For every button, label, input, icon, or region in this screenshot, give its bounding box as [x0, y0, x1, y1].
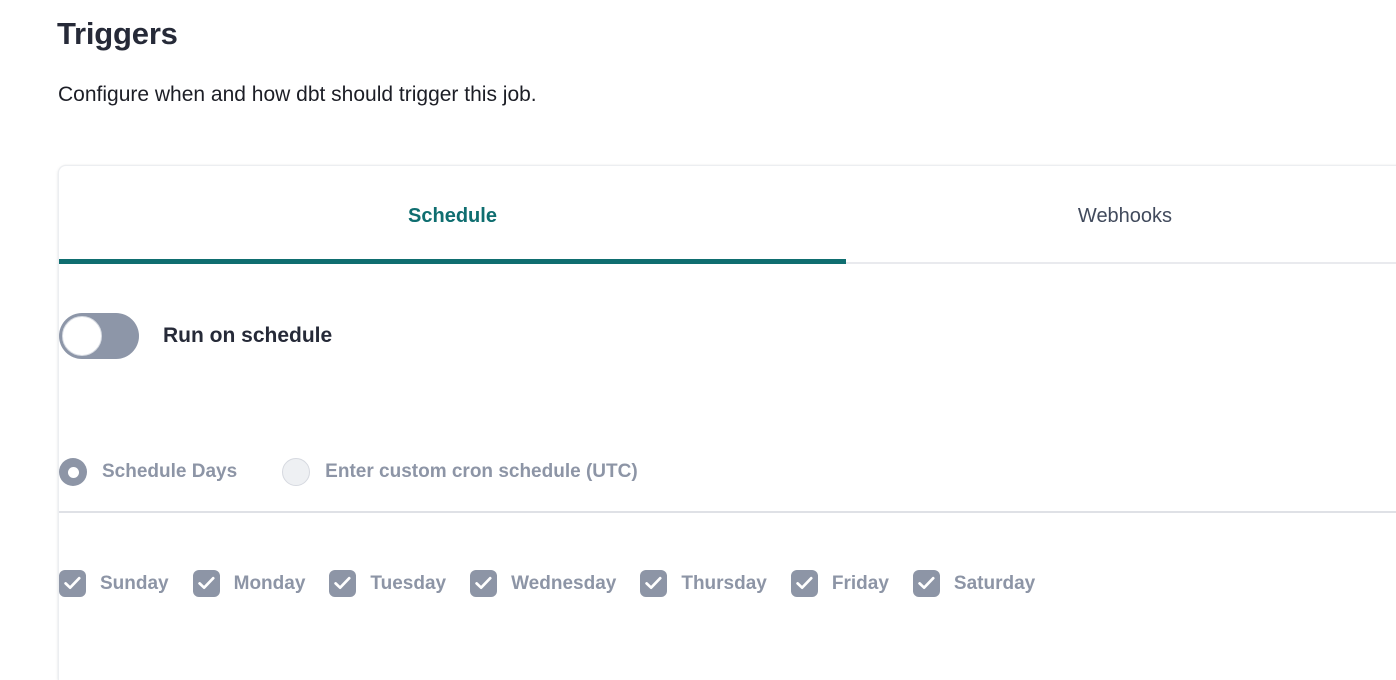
- checkmark-icon: [470, 570, 497, 597]
- checkmark-icon: [329, 570, 356, 597]
- toggle-knob: [62, 316, 102, 356]
- day-checkbox-monday[interactable]: Monday: [193, 570, 306, 597]
- triggers-page: Triggers Configure when and how dbt shou…: [0, 0, 1396, 680]
- checkmark-icon: [193, 570, 220, 597]
- checkmark-icon: [913, 570, 940, 597]
- radio-unselected-icon: [282, 458, 310, 486]
- day-checkbox-thursday[interactable]: Thursday: [640, 570, 767, 597]
- radio-option-schedule-days-label: Schedule Days: [102, 461, 237, 483]
- day-checkbox-friday[interactable]: Friday: [791, 570, 889, 597]
- tab-webhooks[interactable]: Webhooks: [846, 166, 1396, 267]
- section-divider: [59, 511, 1396, 513]
- checkmark-icon: [640, 570, 667, 597]
- checkmark-icon: [791, 570, 818, 597]
- day-checkbox-tuesday[interactable]: Tuesday: [329, 570, 446, 597]
- day-label-wednesday: Wednesday: [511, 573, 616, 595]
- day-checkbox-wednesday[interactable]: Wednesday: [470, 570, 616, 597]
- radio-option-schedule-days[interactable]: Schedule Days: [59, 458, 237, 486]
- schedule-days-checkbox-group: Sunday Monday Tuesday: [59, 570, 1035, 597]
- day-checkbox-sunday[interactable]: Sunday: [59, 570, 169, 597]
- tab-bar: Schedule Webhooks: [59, 166, 1396, 267]
- tab-active-indicator: [59, 259, 846, 264]
- page-title: Triggers: [57, 12, 178, 56]
- day-label-thursday: Thursday: [681, 573, 767, 595]
- day-checkbox-saturday[interactable]: Saturday: [913, 570, 1035, 597]
- checkmark-icon: [59, 570, 86, 597]
- day-label-saturday: Saturday: [954, 573, 1035, 595]
- day-label-tuesday: Tuesday: [370, 573, 446, 595]
- day-label-monday: Monday: [234, 573, 306, 595]
- radio-option-custom-cron-label: Enter custom cron schedule (UTC): [325, 461, 638, 483]
- day-label-friday: Friday: [832, 573, 889, 595]
- page-subtitle: Configure when and how dbt should trigge…: [58, 80, 537, 110]
- schedule-mode-radio-group: Schedule Days Enter custom cron schedule…: [59, 458, 638, 486]
- radio-selected-icon: [59, 458, 87, 486]
- run-on-schedule-toggle[interactable]: [59, 313, 139, 359]
- tab-schedule[interactable]: Schedule: [59, 166, 846, 267]
- run-on-schedule-label: Run on schedule: [163, 324, 332, 348]
- day-label-sunday: Sunday: [100, 573, 169, 595]
- triggers-card: Schedule Webhooks Run on schedule Schedu…: [58, 165, 1396, 680]
- radio-option-custom-cron[interactable]: Enter custom cron schedule (UTC): [282, 458, 638, 486]
- run-on-schedule-row: Run on schedule: [59, 313, 332, 359]
